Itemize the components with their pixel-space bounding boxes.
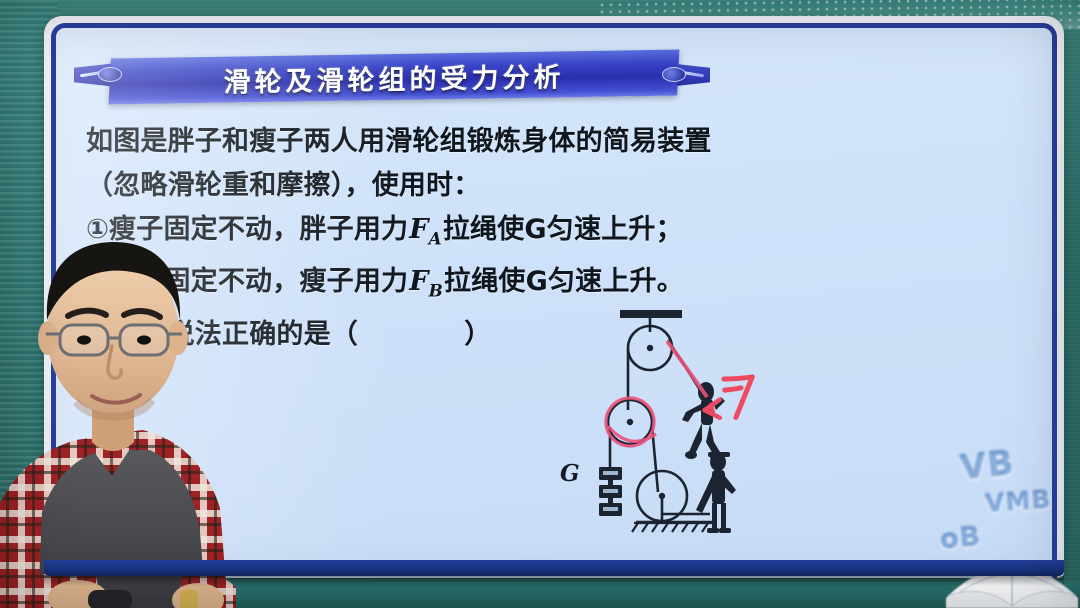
whiteboard-ledge — [44, 560, 1064, 576]
force-symbol-b: FB — [408, 266, 444, 297]
question-line-1-text: 如图是胖子和瘦子两人用滑轮组锻炼身体的简易装置 — [86, 126, 712, 157]
question-line-2: （忽略滑轮重和摩擦），使用时： — [86, 164, 1036, 208]
question-line-3: ①瘦子固定不动，胖子用力FA拉绳使G匀速上升； — [86, 208, 1036, 260]
question-line-3-pre: ①瘦子固定不动，胖子用力 — [86, 214, 408, 245]
force-symbol-b-sub: B — [429, 281, 443, 301]
weight-label-g: G — [560, 460, 580, 487]
whiteboard-ledge-shadow — [44, 576, 1064, 586]
question-line-5-pre: 则下列说法正确的是（ — [86, 319, 358, 350]
pin-ornament-icon-right — [662, 66, 706, 82]
title-banner: 滑轮及滑轮组的受力分析 — [74, 52, 710, 102]
lecture-video-frame: 滑轮及滑轮组的受力分析 如图是胖子和瘦子两人用滑轮组锻炼身体的简易装置 （忽略滑… — [0, 0, 1080, 608]
question-line-1: 如图是胖子和瘦子两人用滑轮组锻炼身体的简易装置 — [86, 120, 1036, 164]
banner-title-text: 滑轮及滑轮组的受力分析 — [110, 50, 678, 105]
red-highlight-marks — [606, 341, 707, 446]
force-symbol-a-sub: A — [429, 228, 442, 248]
wall-letter-vmb: VMB — [984, 485, 1052, 519]
force-symbol-a: FA — [408, 214, 443, 245]
question-line-4-pre: ②胖子固定不动，瘦子用力 — [86, 266, 408, 297]
ceiling-bracket — [620, 310, 682, 318]
answer-blank — [358, 319, 464, 350]
question-line-2-text: （忽略滑轮重和摩擦），使用时： — [86, 170, 481, 201]
question-line-3-post: 拉绳使G匀速上升； — [443, 214, 683, 245]
pulley-system-diagram: G — [546, 300, 816, 550]
question-line-4-post: 拉绳使G匀速上升。 — [444, 266, 684, 297]
hatched-ground — [632, 523, 712, 532]
pin-ornament-icon-left — [78, 66, 122, 82]
force-symbol-a-base: F — [409, 214, 428, 245]
force-symbol-b-base: F — [409, 266, 428, 297]
wall-letter-vb: VB — [958, 443, 1016, 488]
question-line-5-post: ） — [464, 319, 491, 350]
